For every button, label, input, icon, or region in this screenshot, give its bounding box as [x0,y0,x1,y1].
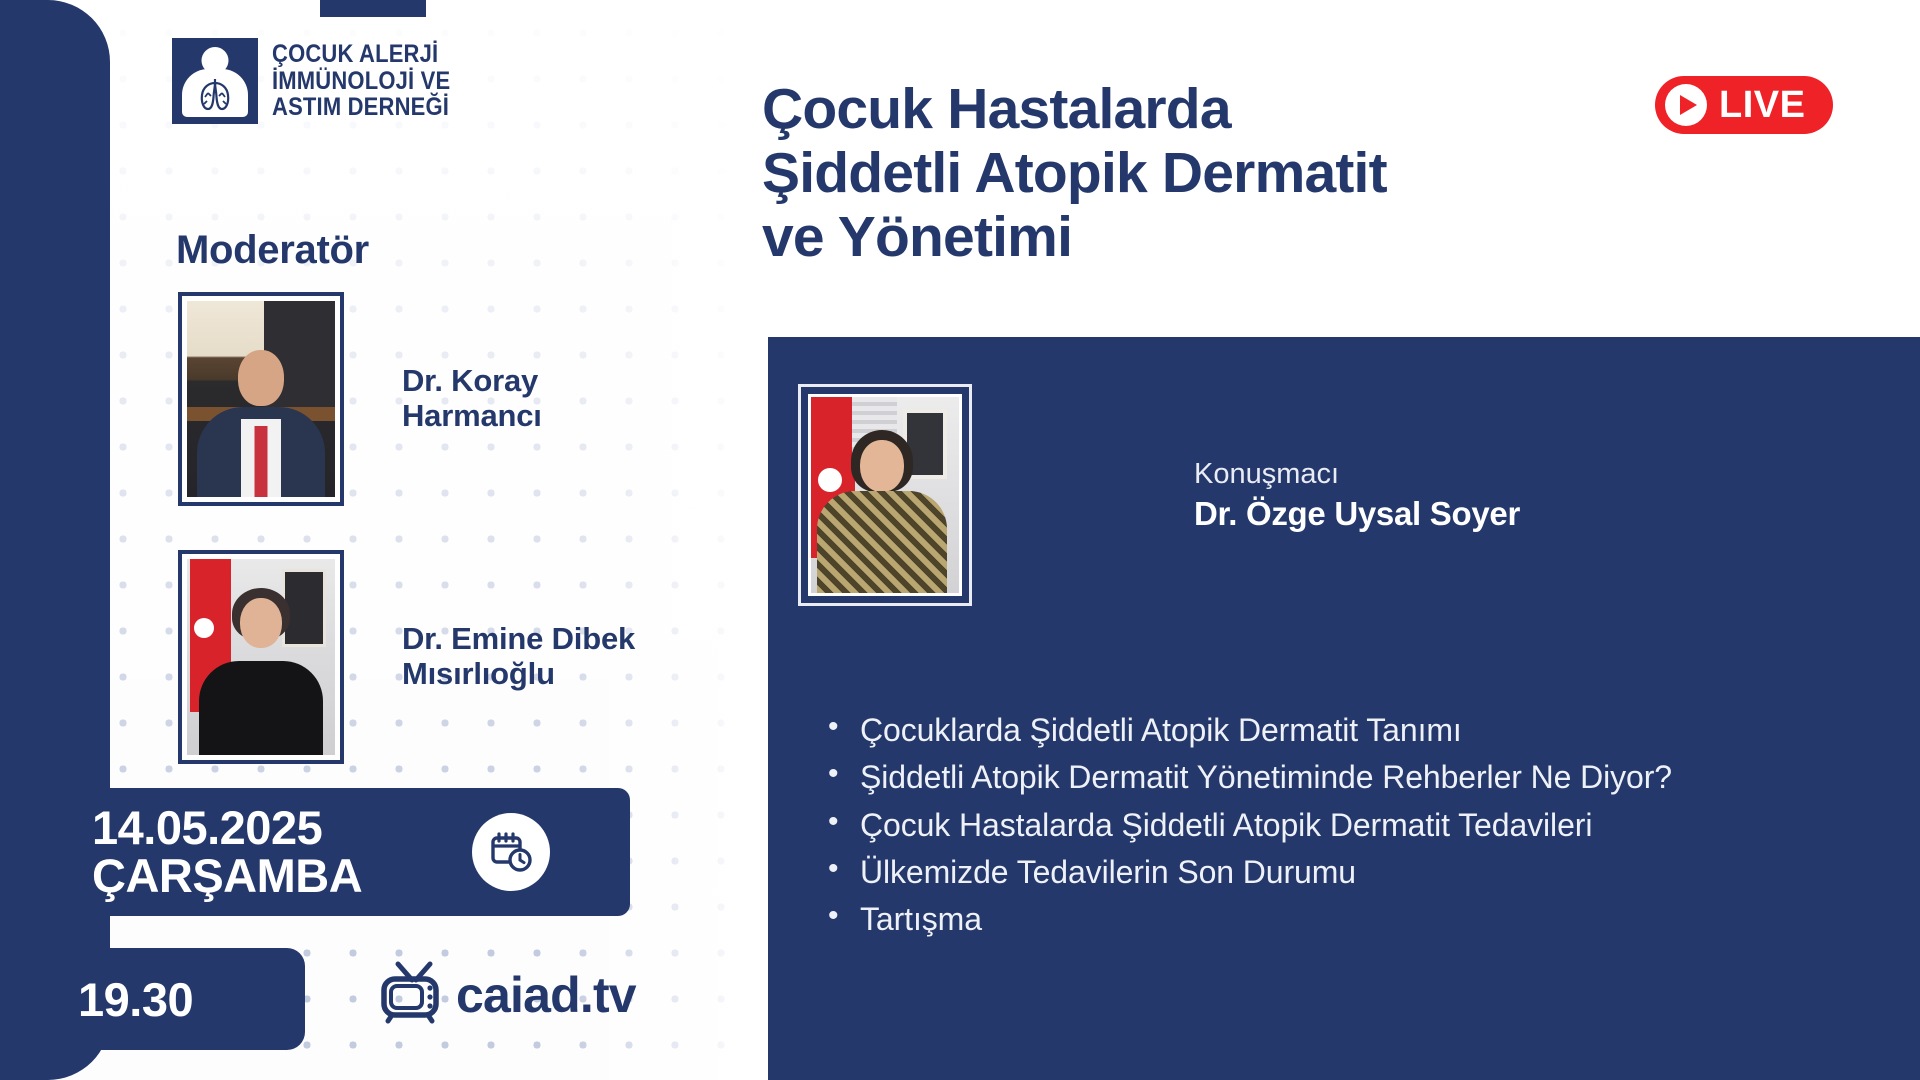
moderator-name-1: Dr. Koray Harmancı [402,364,542,433]
logo-line-3: ASTIM DERNEĞİ [272,94,450,121]
dot-pattern-background [0,0,790,1080]
page-title: Çocuk Hastalarda Şiddetli Atopik Dermati… [762,78,1387,269]
left-navy-rail [0,0,110,1080]
event-day-name: ÇARŞAMBA [92,852,362,900]
live-badge[interactable]: LIVE [1655,76,1833,134]
time-pill: 19.30 [0,948,305,1050]
moderator-name-2-line2: Mısırlıoğlu [402,657,635,692]
moderator-entry-1: Dr. Koray Harmancı [178,292,542,506]
moderator-entry-2: Dr. Emine Dibek Mısırlıoğlu [178,550,635,764]
channel-row[interactable]: caiad.tv [378,960,636,1029]
title-line-3: ve Yönetimi [762,206,1387,270]
speaker-name: Dr. Özge Uysal Soyer [1194,493,1520,534]
moderator-name-1-line2: Harmancı [402,399,542,434]
title-line-1: Çocuk Hastalarda [762,78,1387,142]
moderator-name-2-line1: Dr. Emine Dibek [402,622,635,657]
list-item: Tartışma [820,899,1890,939]
logo-line-2: İMMÜNOLOJİ VE [272,68,450,95]
calendar-clock-icon [472,813,550,891]
moderator-photo-frame-2 [178,550,344,764]
topic-list: Çocuklarda Şiddetli Atopik Dermatit Tanı… [820,710,1890,947]
list-item: Çocuk Hastalarda Şiddetli Atopik Dermati… [820,805,1890,845]
association-logo: ÇOCUK ALERJİ İMMÜNOLOJİ VE ASTIM DERNEĞİ [172,38,475,124]
moderator-name-1-line1: Dr. Koray [402,364,542,399]
logo-line-1: ÇOCUK ALERJİ [272,41,450,68]
title-line-2: Şiddetli Atopik Dermatit [762,142,1387,206]
moderator-heading: Moderatör [176,228,369,273]
list-item: Ülkemizde Tedavilerin Son Durumu [820,852,1890,892]
list-item: Çocuklarda Şiddetli Atopik Dermatit Tanı… [820,710,1890,750]
channel-name[interactable]: caiad.tv [456,966,636,1024]
date-banner: 14.05.2025 ÇARŞAMBA [52,788,630,916]
portrait-ozge-uysal-soyer [811,397,959,593]
portrait-koray-harmanci [187,301,335,497]
child-lungs-icon [172,38,258,124]
event-time: 19.30 [78,972,193,1027]
event-date: 14.05.2025 ÇARŞAMBA [92,804,362,901]
play-icon [1665,84,1707,126]
portrait-emine-dibek-misirlioglu [187,559,335,755]
speaker-meta: Konuşmacı Dr. Özge Uysal Soyer [1194,456,1520,534]
top-navy-tab [320,0,426,17]
moderator-photo-frame-1 [178,292,344,506]
moderator-name-2: Dr. Emine Dibek Mısırlıoğlu [402,622,635,691]
list-item: Şiddetli Atopik Dermatit Yönetiminde Reh… [820,757,1890,797]
association-name: ÇOCUK ALERJİ İMMÜNOLOJİ VE ASTIM DERNEĞİ [272,41,450,121]
speaker-role: Konuşmacı [1194,456,1520,492]
event-date-value: 14.05.2025 [92,804,362,852]
speaker-photo-frame [798,384,972,606]
live-label: LIVE [1719,84,1805,127]
television-icon [378,960,450,1029]
speaker-block: Konuşmacı Dr. Özge Uysal Soyer [798,384,1520,606]
